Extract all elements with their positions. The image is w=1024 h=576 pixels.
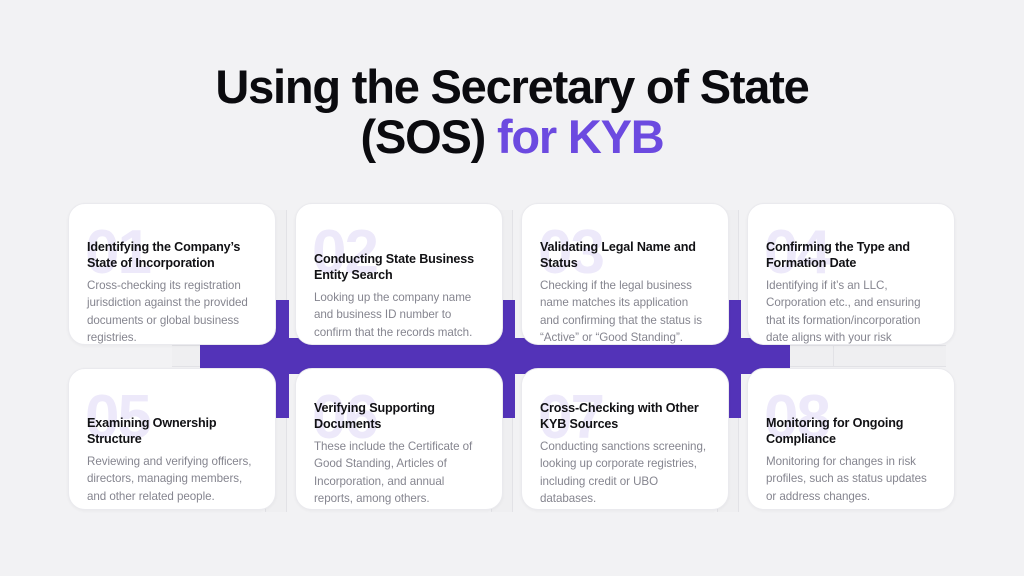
step-card-title: Cross-Checking with Other KYB Sources <box>540 400 710 432</box>
step-card-body: Monitoring for changes in risk profiles,… <box>766 453 936 504</box>
step-card-08[interactable]: 08 Monitoring for Ongoing Compliance Mon… <box>747 368 955 510</box>
progress-track-right <box>786 345 946 367</box>
step-card-title: Confirming the Type and Formation Date <box>766 239 936 271</box>
step-card-title: Validating Legal Name and Status <box>540 239 710 271</box>
step-card-title: Identifying the Company’s State of Incor… <box>87 239 257 271</box>
step-card-01[interactable]: 01 Identifying the Company’s State of In… <box>68 203 276 345</box>
step-card-05[interactable]: 05 Examining Ownership Structure Reviewi… <box>68 368 276 510</box>
page-title-line-2-plain: (SOS) <box>361 110 497 163</box>
step-card-body: Conducting sanctions screening, looking … <box>540 438 710 507</box>
step-card-body: Checking if the legal business name matc… <box>540 277 710 345</box>
step-card-body: These include the Certificate of Good St… <box>314 438 484 507</box>
page-title-accent: for KYB <box>497 110 664 163</box>
step-card-title: Conducting State Business Entity Search <box>314 251 484 283</box>
page-title-line-2: (SOS) for KYB <box>0 112 1024 162</box>
step-card-title: Examining Ownership Structure <box>87 415 257 447</box>
step-card-body: Identifying if it’s an LLC, Corporation … <box>766 277 936 345</box>
step-card-body: Reviewing and verifying officers, direct… <box>87 453 257 504</box>
page-title-line-1: Using the Secretary of State <box>0 62 1024 112</box>
step-card-title: Verifying Supporting Documents <box>314 400 484 432</box>
track-segment-divider <box>833 345 834 367</box>
step-card-02[interactable]: 02 Conducting State Business Entity Sear… <box>295 203 503 345</box>
step-card-body: Looking up the company name and business… <box>314 289 484 340</box>
step-card-04[interactable]: 04 Confirming the Type and Formation Dat… <box>747 203 955 345</box>
step-card-03[interactable]: 03 Validating Legal Name and Status Chec… <box>521 203 729 345</box>
step-card-title: Monitoring for Ongoing Compliance <box>766 415 936 447</box>
step-card-body: Cross-checking its registration jurisdic… <box>87 277 257 345</box>
page-title: Using the Secretary of State (SOS) for K… <box>0 62 1024 162</box>
step-card-06[interactable]: 06 Verifying Supporting Documents These … <box>295 368 503 510</box>
step-card-07[interactable]: 07 Cross-Checking with Other KYB Sources… <box>521 368 729 510</box>
